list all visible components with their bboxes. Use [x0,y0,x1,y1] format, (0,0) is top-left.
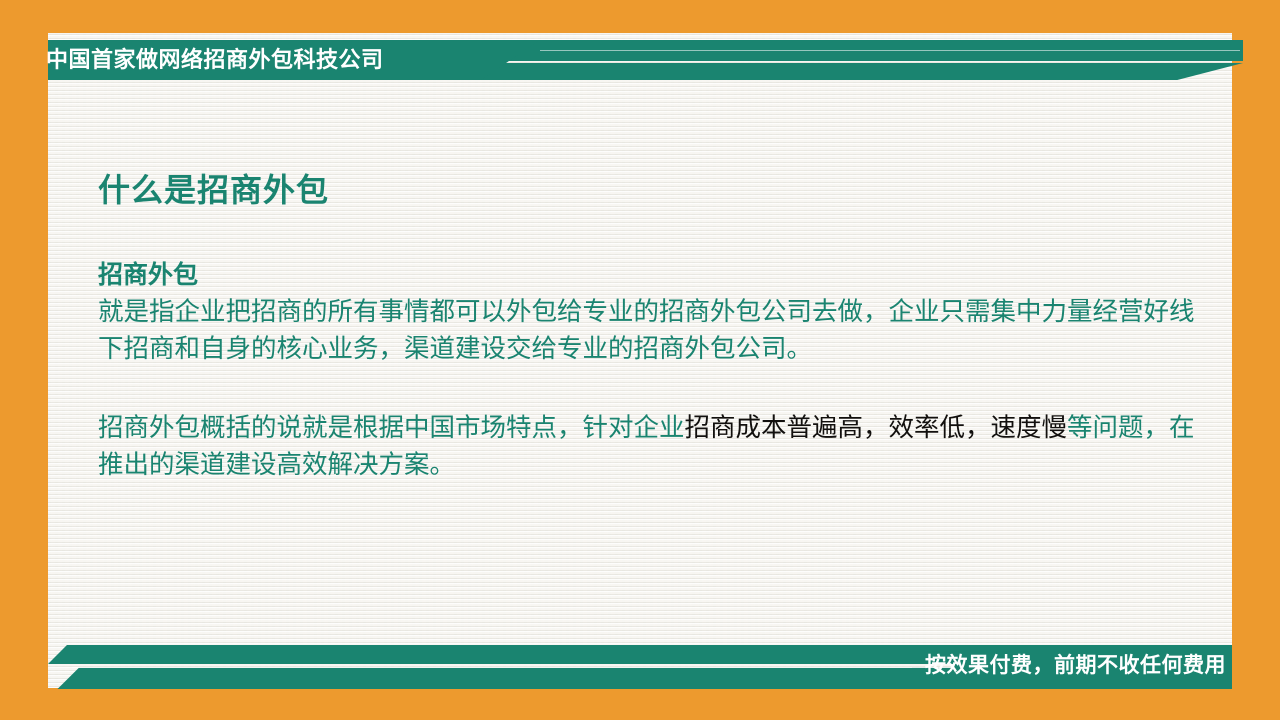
slide-canvas: 中国首家做网络招商外包科技公司 什么是招商外包 招商外包 就是指企业把招商的所有… [0,0,1280,720]
paragraph-summary-emphasis: 招商成本普遍高，效率低，速度慢 [685,414,1068,442]
section-subtitle: 招商外包 [98,258,1218,292]
paragraph-summary: 招商外包概括的说就是根据中国市场特点，针对企业招商成本普遍高，效率低，速度慢等问… [98,410,1218,484]
page-title: 什么是招商外包 [98,170,1218,210]
slide-body: 什么是招商外包 招商外包 就是指企业把招商的所有事情都可以外包给专业的招商外包公… [98,170,1218,484]
paragraph-definition: 就是指企业把招商的所有事情都可以外包给专业的招商外包公司去做，企业只需集中力量经… [98,294,1218,368]
paragraph-summary-lead: 招商外包概括的说就是根据中国市场特点，针对企业 [98,414,685,442]
